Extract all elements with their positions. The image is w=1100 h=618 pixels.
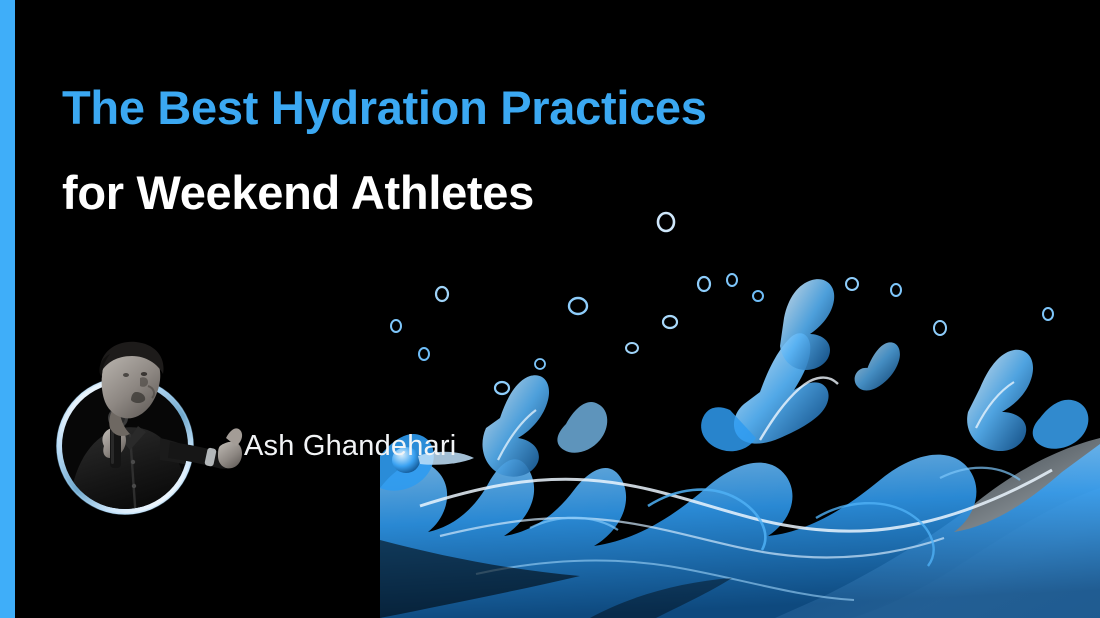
author-block: Ash Ghandehari (62, 380, 456, 512)
water-splash-photo (380, 188, 1100, 618)
avatar (62, 380, 194, 512)
slide-canvas: The Best Hydration Practices for Weekend… (0, 0, 1100, 618)
headline: The Best Hydration Practices for Weekend… (62, 84, 982, 216)
headline-line-2: for Weekend Athletes (62, 169, 982, 216)
left-accent-stripe (0, 0, 15, 618)
author-name: Ash Ghandehari (244, 430, 456, 463)
headline-line-1: The Best Hydration Practices (62, 84, 982, 169)
